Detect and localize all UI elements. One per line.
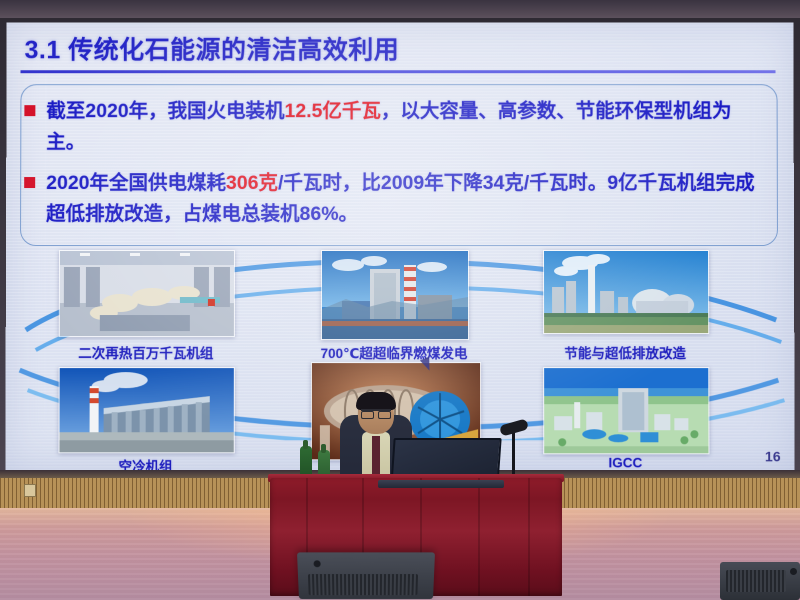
photo-caption: IGCC <box>543 455 707 470</box>
coal-plant-image <box>322 251 468 339</box>
wall-outlet <box>24 484 36 497</box>
photo-caption: 二次再热百万千瓦机组 <box>59 342 233 362</box>
bottle-cap <box>303 440 308 449</box>
conference-room-scene: 3.1 传统化石能源的清洁高效利用 截至2020年，我国火电装机12.5亿千瓦，… <box>0 0 800 600</box>
speaker-knob <box>313 560 320 567</box>
slide-photo <box>58 367 234 453</box>
photo-caption: 700℃超超临界燃煤发电 <box>301 342 487 362</box>
projected-slide: 3.1 传统化石能源的清洁高效利用 截至2020年，我国火电装机12.5亿千瓦，… <box>5 22 794 470</box>
slide-photo <box>543 250 709 334</box>
laptop-base[interactable] <box>378 480 504 488</box>
emission-retrofit-image <box>544 251 708 333</box>
slide-title: 3.1 传统化石能源的清洁高效利用 <box>25 30 400 66</box>
stage-monitor-speaker <box>297 552 435 599</box>
bottle-cap <box>321 444 326 453</box>
bullet-segment-highlight: 306克 <box>226 172 278 194</box>
presenter-tie <box>372 436 380 476</box>
speaker-knob <box>790 568 797 575</box>
speaker-grille <box>726 570 786 592</box>
stage-monitor-speaker <box>720 562 800 600</box>
slide-photo <box>59 250 235 337</box>
bullet-square-icon <box>24 177 35 188</box>
photo-caption: 节能与超低排放改造 <box>527 342 723 362</box>
slide-photo <box>321 250 469 340</box>
igcc-aerial-image <box>544 368 708 453</box>
presenter-glasses <box>361 409 391 418</box>
bullet-text: 2020年全国供电煤耗306克/千瓦时，比2009年下降34克/千瓦时。9亿千瓦… <box>46 168 760 230</box>
bullet-square-icon <box>24 105 35 116</box>
bullet-segment: 截至2020年，我国火电装机 <box>46 100 284 122</box>
title-divider <box>20 70 775 73</box>
photo-caption: 空冷机组 <box>58 455 232 470</box>
slide-photo <box>543 367 709 454</box>
bullet-segment-highlight: 12.5亿千瓦 <box>284 100 380 122</box>
turbine-hall-image <box>60 251 234 336</box>
speaker-grille <box>308 574 418 595</box>
bullet-text: 截至2020年，我国火电装机12.5亿千瓦，以大容量、高参数、节能环保型机组为主… <box>46 96 760 158</box>
air-cooled-unit-image <box>59 368 233 452</box>
bullet-segment: 2020年全国供电煤耗 <box>46 172 226 194</box>
presenter-hair <box>356 392 396 410</box>
slide-page-number: 16 <box>765 448 781 464</box>
